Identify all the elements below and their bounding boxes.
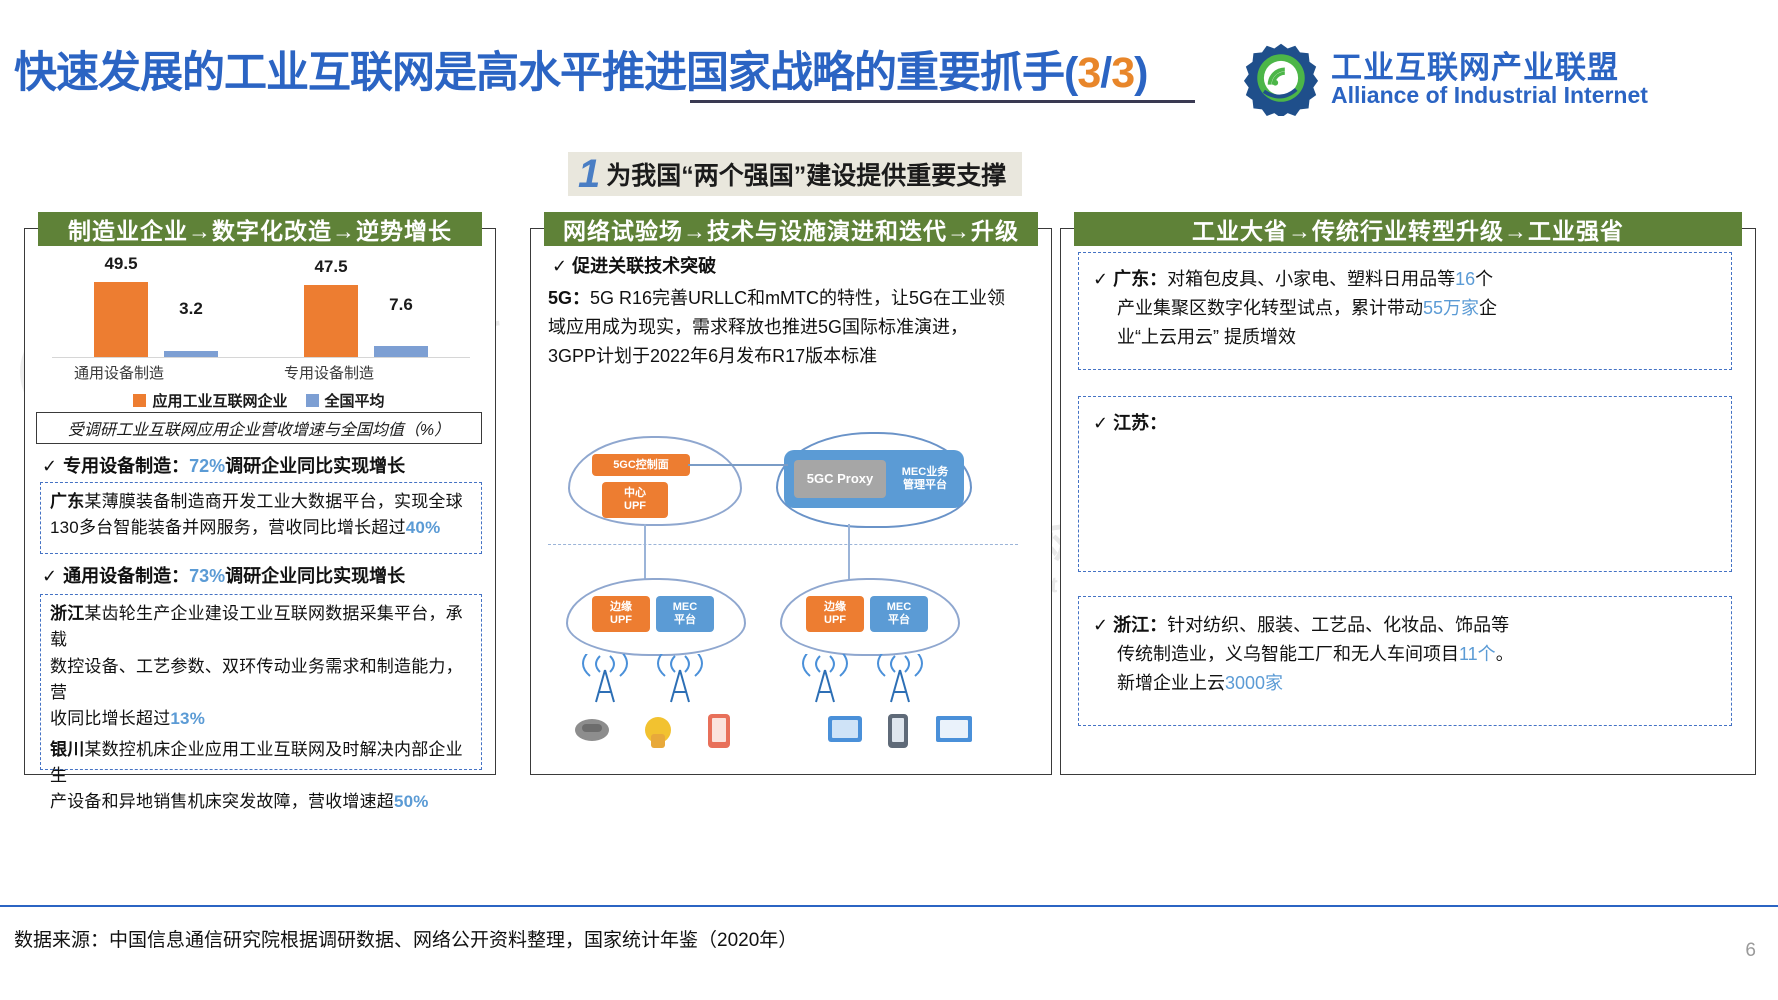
page-title: 快速发展的工业互联网是高水平推进国家战略的重要抓手(3/3)	[14, 38, 1147, 100]
check-icon: ✓	[42, 566, 63, 586]
bar-value-2: 3.2	[154, 299, 228, 319]
node-5gc-control-plane: 5GC控制面	[592, 454, 690, 476]
bullet-highlight: 72%	[189, 456, 225, 476]
legend-swatch-blue	[306, 394, 319, 407]
case-highlight: 50%	[394, 792, 429, 811]
zhejiang-body: 新增企业上云	[1117, 673, 1225, 693]
node-5gc-proxy: 5GC Proxy	[794, 460, 886, 498]
case-line-1: 广东某薄膜装备制造商开发工业大数据平台，实现全球	[50, 489, 472, 515]
check-icon: ✓	[42, 456, 63, 476]
node-label: 5GC Proxy	[807, 472, 873, 487]
brand-logo: 工业互联网产业联盟 Alliance of Industrial Interne…	[1243, 40, 1763, 115]
section-title: 为我国“两个强国”建设提供重要支撑	[606, 156, 1006, 192]
guangdong-highlight: 55万家	[1423, 298, 1479, 318]
case-region: 浙江	[50, 604, 84, 623]
page-title-text: 快速发展的工业互联网是高水平推进国家战略的重要抓手	[14, 49, 1064, 97]
guangdong-body: 对箱包皮具、小家电、塑料日用品等	[1167, 269, 1455, 289]
zhejiang-body: 。	[1496, 644, 1514, 664]
guangdong-highlight: 16	[1455, 269, 1475, 289]
chart-category-1: 通用设备制造	[44, 362, 194, 383]
legend-label-blue: 全国平均	[325, 390, 385, 411]
node-label-line1: MEC	[887, 601, 911, 614]
bar-value-3: 47.5	[294, 257, 368, 277]
section-number: 1	[578, 154, 606, 194]
node-label: 5GC控制面	[613, 459, 669, 472]
bar-blue-1	[164, 351, 218, 357]
bar-value-1: 49.5	[84, 254, 158, 274]
chart-category-2: 专用设备制造	[254, 362, 404, 383]
node-mec-left: MEC平台	[656, 596, 714, 632]
zhejiang-body: 针对纺织、服装、工艺品、化妆品、饰品等	[1167, 615, 1509, 635]
case-body: 某数控机床企业应用工业互联网及时解决内部企业生	[50, 740, 463, 785]
node-mec-management-platform: MEC业务管理平台	[890, 460, 960, 498]
bullet-prefix: 通用设备制造：	[63, 566, 189, 586]
panel2-body-line1: 5G R16完善URLLC和mMTC的特性，让5G在工业领	[590, 288, 1005, 308]
case-line-5: 产设备和异地销售机床突发故障，营收增速超50%	[50, 789, 472, 815]
chart-caption-box: 受调研工业互联网应用企业营收增速与全国均值（%）	[36, 412, 482, 444]
footer-rule	[0, 905, 1778, 907]
case-region: 广东	[50, 492, 84, 511]
case-highlight: 13%	[170, 709, 205, 728]
guangdong-body: 个	[1475, 269, 1493, 289]
guangdong-body: 企	[1479, 298, 1497, 318]
zhejiang-highlight: 3000家	[1225, 673, 1283, 693]
node-label-line1: 边缘	[610, 601, 632, 614]
zhejiang-line-3: 新增企业上云3000家	[1093, 669, 1717, 698]
panel2-body: 5G：5G R16完善URLLC和mMTC的特性，让5G在工业领 域应用成为现实…	[548, 284, 1042, 371]
bullet-special-equipment: ✓专用设备制造：72%调研企业同比实现增长	[42, 452, 405, 478]
jiangsu-region: 江苏：	[1113, 413, 1167, 433]
alliance-gear-icon	[1243, 40, 1319, 116]
bar-orange-2	[304, 285, 358, 357]
node-label-line2: 管理平台	[903, 479, 947, 492]
case-region: 银川	[50, 740, 84, 759]
guangdong-region: 广东：	[1113, 269, 1167, 289]
node-label-line2: UPF	[624, 500, 646, 513]
node-label-line1: 边缘	[824, 601, 846, 614]
node-label-line1: MEC业务	[902, 466, 948, 479]
link-control-to-proxy	[688, 464, 788, 466]
case-line-1: 浙江某齿轮生产企业建设工业互联网数据采集平台，承载	[50, 601, 472, 654]
zhejiang-line-2: 传统制造业，义乌智能工厂和无人车间项目11个。	[1093, 640, 1717, 669]
node-edge-upf-right: 边缘UPF	[806, 596, 864, 632]
chart-legend: 应用工业互联网企业 全国平均	[38, 390, 480, 411]
slide: 工业互联网产业联盟 Alliance of Industrial Interne…	[0, 0, 1778, 1000]
case-body: 130多台智能装备并网服务，营收同比增长超过	[50, 518, 406, 537]
bar-blue-2	[374, 346, 428, 357]
check-icon: ✓	[1093, 413, 1108, 433]
legend-label-orange: 应用工业互联网企业	[152, 390, 287, 411]
node-mec-right: MEC平台	[870, 596, 928, 632]
page-number: 6	[1745, 940, 1756, 962]
node-label-line2: UPF	[824, 614, 846, 627]
node-label-line2: 平台	[674, 614, 696, 627]
panel2-body-line2: 域应用成为现实，需求释放也推进5G国际标准演进，	[548, 317, 968, 337]
logo-title-en: Alliance of Industrial Internet	[1331, 82, 1648, 109]
panel2-body-lead: 5G：	[548, 288, 590, 308]
node-label-line1: 中心	[624, 487, 646, 500]
bullet-suffix: 调研企业同比实现增长	[225, 566, 405, 586]
case-zhejiang: ✓ 浙江：针对纺织、服装、工艺品、化妆品、饰品等 传统制造业，义乌智能工厂和无人…	[1078, 596, 1732, 726]
node-label-line2: UPF	[610, 614, 632, 627]
bar-orange-1	[94, 282, 148, 357]
panel-network-testbed-heading: 网络试验场→技术与设施演进和迭代→升级	[544, 212, 1038, 246]
guangdong-body: 产业集聚区数字化转型试点，累计带动	[1117, 298, 1423, 318]
footer-source: 数据来源：中国信息通信研究院根据调研数据、网络公开资料整理，国家统计年鉴（202…	[14, 925, 797, 952]
node-label-line1: MEC	[673, 601, 697, 614]
case-guangdong: ✓ 广东：对箱包皮具、小家电、塑料日用品等16个 产业集聚区数字化转型试点，累计…	[1078, 252, 1732, 370]
bullet-highlight: 73%	[189, 566, 225, 586]
legend-swatch-orange	[133, 394, 146, 407]
zhejiang-region: 浙江：	[1113, 615, 1167, 635]
title-underline	[690, 100, 1195, 103]
chart-caption: 受调研工业互联网应用企业营收增速与全国均值（%）	[68, 416, 450, 440]
node-central-upf: 中心UPF	[602, 482, 668, 518]
case-jiangsu: ✓ 江苏： 冶金行业 生产过程数据收集与分析 节能降耗 提升产品质量 服装行业 …	[1078, 396, 1732, 572]
case-body: 产设备和异地销售机床突发故障，营收增速超	[50, 792, 394, 811]
panel-manufacturing-heading: 制造业企业→数字化改造→逆势增长	[38, 212, 482, 246]
case-body: 某齿轮生产企业建设工业互联网数据采集平台，承载	[50, 604, 463, 649]
panel-industrial-provinces-heading: 工业大省→传统行业转型升级→工业强省	[1074, 212, 1742, 246]
bullet-prefix: 专用设备制造：	[63, 456, 189, 476]
zhejiang-line-1: ✓ 浙江：针对纺织、服装、工艺品、化妆品、饰品等	[1093, 611, 1717, 640]
guangdong-line-1: ✓ 广东：对箱包皮具、小家电、塑料日用品等16个	[1093, 265, 1717, 294]
case-line-2: 数控设备、工艺参数、双环传动业务需求和制造能力，营	[50, 654, 472, 707]
zhejiang-highlight: 11个	[1459, 644, 1496, 664]
chart-axis	[52, 357, 470, 359]
panel2-body-line3: 3GPP计划于2022年6月发布R17版本标准	[548, 346, 877, 366]
case-body: 数控设备、工艺参数、双环传动业务需求和制造能力，营	[50, 657, 463, 702]
bullet-suffix: 调研企业同比实现增长	[225, 456, 405, 476]
network-architecture-diagram: 5GC控制面 中心UPF 5GC Proxy MEC业务管理平台 边缘UPF M…	[548, 418, 1048, 758]
check-icon: ✓	[1093, 269, 1108, 289]
diagram-divider	[548, 544, 1018, 545]
device-group-icon	[566, 704, 986, 754]
jiangsu-heading: ✓ 江苏：	[1093, 409, 1731, 438]
guangdong-line-2: 产业集聚区数字化转型试点，累计带动55万家企	[1093, 294, 1717, 323]
revenue-growth-bar-chart: 49.5 3.2 47.5 7.6	[38, 258, 480, 358]
case-guangdong-film: 广东某薄膜装备制造商开发工业大数据平台，实现全球 130多台智能装备并网服务，营…	[40, 482, 482, 554]
legend-item-national: 全国平均	[306, 390, 385, 411]
case-line-4: 银川某数控机床企业应用工业互联网及时解决内部企业生	[50, 737, 472, 790]
case-line-2: 130多台智能装备并网服务，营收同比增长超过40%	[50, 515, 472, 541]
case-highlight: 40%	[406, 518, 441, 537]
legend-item-applied: 应用工业互联网企业	[133, 390, 287, 411]
logo-title-cn: 工业互联网产业联盟	[1331, 42, 1619, 87]
case-body: 某薄膜装备制造商开发工业大数据平台，实现全球	[84, 492, 462, 511]
bullet-tech-breakthrough: ✓ 促进关联技术突破	[552, 252, 716, 278]
node-edge-upf-left: 边缘UPF	[592, 596, 650, 632]
page-indicator: (3/3)	[1064, 49, 1147, 97]
case-body: 收同比增长超过	[50, 709, 170, 728]
case-line-3: 收同比增长超过13%	[50, 706, 472, 732]
section-banner: 1 为我国“两个强国”建设提供重要支撑	[568, 152, 1022, 196]
node-label-line2: 平台	[888, 614, 910, 627]
guangdong-line-3: 业“上云用云” 提质增效	[1093, 323, 1717, 352]
case-zhejiang-yinchuan: 浙江某齿轮生产企业建设工业互联网数据采集平台，承载 数控设备、工艺参数、双环传动…	[40, 594, 482, 770]
bullet-general-equipment: ✓通用设备制造：73%调研企业同比实现增长	[42, 562, 405, 588]
check-icon: ✓	[1093, 615, 1108, 635]
zhejiang-body: 传统制造业，义乌智能工厂和无人车间项目	[1117, 644, 1459, 664]
bar-value-4: 7.6	[364, 295, 438, 315]
